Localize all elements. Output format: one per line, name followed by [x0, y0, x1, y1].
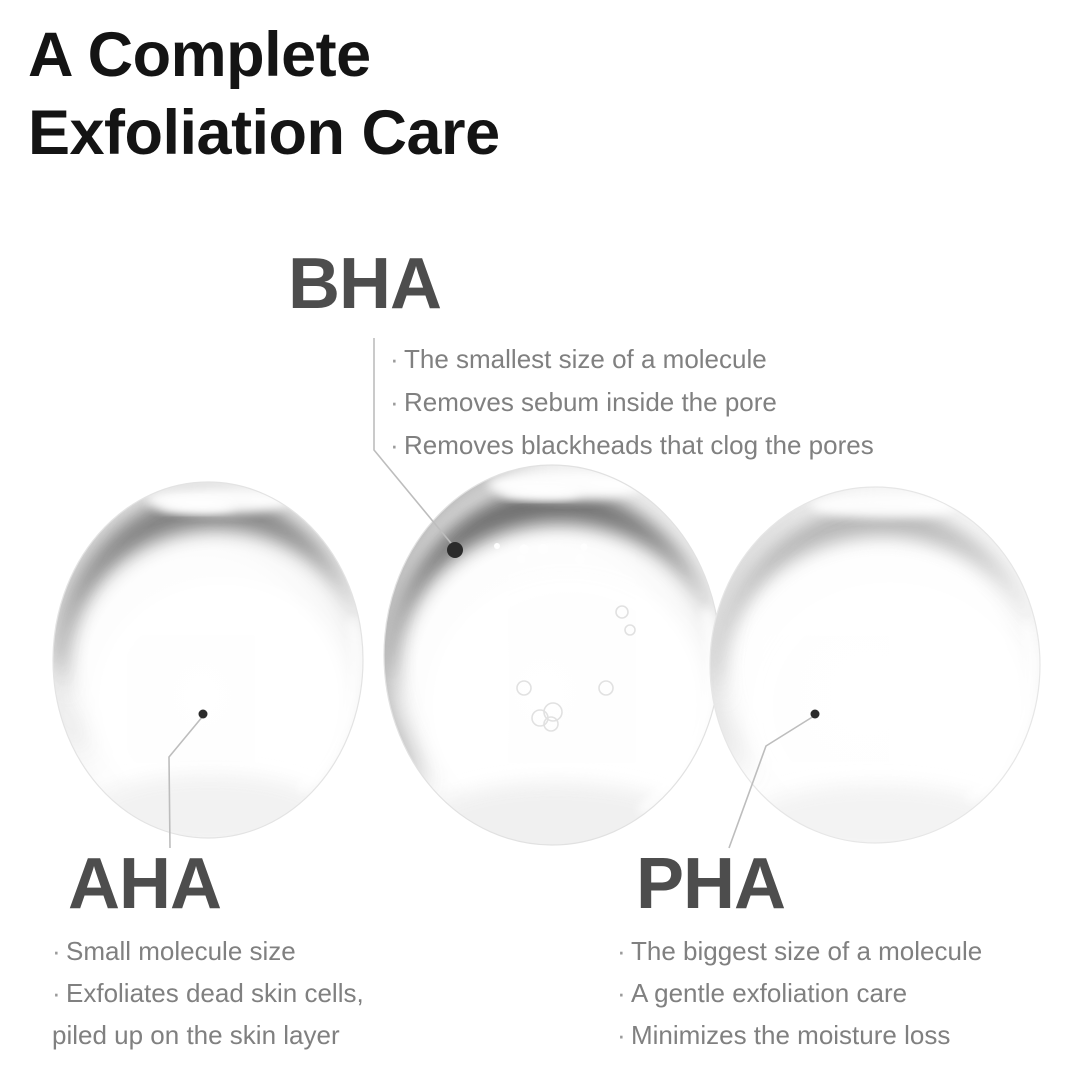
aha-marker	[199, 710, 208, 719]
pha-bullet-3: ·Minimizes the moisture loss	[617, 1014, 982, 1056]
pha-leader	[729, 710, 820, 849]
bullet-glyph: ·	[617, 930, 631, 972]
bha-heading: BHA	[288, 248, 441, 320]
bha-marker	[447, 542, 463, 558]
bubbles-inner	[517, 606, 635, 731]
bha-bullet-1: ·The smallest size of a molecule	[390, 338, 874, 381]
pha-bullet-2-text: A gentle exfoliation care	[631, 978, 907, 1008]
aha-bullet-1-text: Small molecule size	[66, 936, 296, 966]
bullet-glyph: ·	[617, 972, 631, 1014]
bullet-glyph: ·	[52, 972, 66, 1014]
aha-bullet-3-text: piled up on the skin layer	[52, 1020, 340, 1050]
bha-bullet-list: ·The smallest size of a molecule ·Remove…	[390, 338, 874, 467]
aha-bullet-list: ·Small molecule size ·Exfoliates dead sk…	[52, 930, 364, 1056]
aha-bullet-2-continuation: piled up on the skin layer	[52, 1014, 364, 1056]
bha-bullet-2-text: Removes sebum inside the pore	[404, 387, 777, 417]
pha-bullet-1-text: The biggest size of a molecule	[631, 936, 982, 966]
pha-bullet-1: ·The biggest size of a molecule	[617, 930, 982, 972]
infographic-page: A Complete Exfoliation Care BHA ·The sma…	[0, 0, 1076, 1076]
pha-heading: PHA	[636, 848, 785, 920]
bha-bullet-3-text: Removes blackheads that clog the pores	[404, 430, 874, 460]
aha-leader	[169, 710, 208, 849]
bullet-glyph: ·	[52, 930, 66, 972]
bullet-glyph: ·	[617, 1014, 631, 1056]
aha-bullet-2-text: Exfoliates dead skin cells,	[66, 978, 364, 1008]
bullet-glyph: ·	[390, 338, 404, 381]
pha-bullet-2: ·A gentle exfoliation care	[617, 972, 982, 1014]
bullet-glyph: ·	[390, 424, 404, 467]
bha-bullet-2: ·Removes sebum inside the pore	[390, 381, 874, 424]
pha-marker	[811, 710, 820, 719]
bubbles-top	[494, 543, 588, 564]
aha-droplet-shape	[47, 482, 363, 898]
aha-bullet-1: ·Small molecule size	[52, 930, 364, 972]
aha-heading: AHA	[68, 848, 221, 920]
pha-bullet-list: ·The biggest size of a molecule ·A gentl…	[617, 930, 982, 1056]
pha-bullet-3-text: Minimizes the moisture loss	[631, 1020, 950, 1050]
bha-bullet-1-text: The smallest size of a molecule	[404, 344, 767, 374]
aha-bullet-2: ·Exfoliates dead skin cells,	[52, 972, 364, 1014]
page-title: A Complete Exfoliation Care	[28, 16, 748, 172]
bha-bullet-3: ·Removes blackheads that clog the pores	[390, 424, 874, 467]
bullet-glyph: ·	[390, 381, 404, 424]
